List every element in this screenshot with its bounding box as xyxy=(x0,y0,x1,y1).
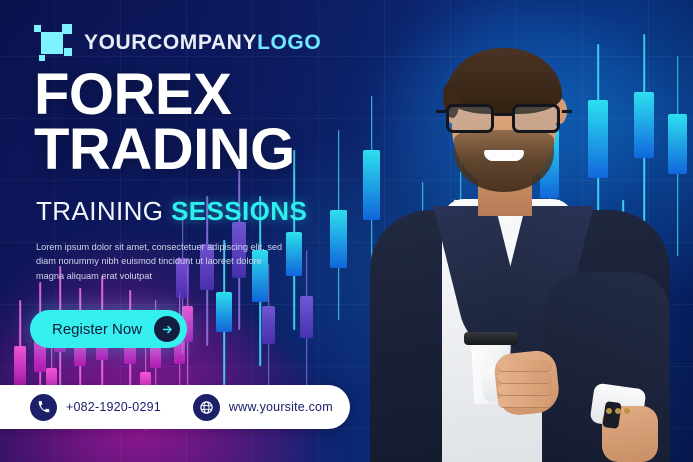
contact-website[interactable]: www.yoursite.com xyxy=(193,394,333,421)
finger xyxy=(498,396,552,407)
phone-icon xyxy=(30,394,57,421)
glasses-temple-right xyxy=(562,110,572,113)
glasses-bridge xyxy=(494,113,514,116)
fingers xyxy=(498,360,554,412)
subheadline-light: TRAINING xyxy=(36,196,171,226)
finger xyxy=(498,360,552,371)
website-url: www.yoursite.com xyxy=(229,400,333,414)
beard xyxy=(454,130,554,192)
logo-square-corner-1 xyxy=(34,25,41,32)
logo-square-corner-3 xyxy=(64,48,72,56)
finger xyxy=(498,384,552,395)
lens-right xyxy=(512,104,560,133)
brand-name: YOURCOMPANYLOGO xyxy=(84,31,321,55)
contact-bar: +082-1920-0291 www.yoursite.com xyxy=(0,385,350,429)
businessman-photo xyxy=(356,34,686,462)
logo-square-corner-4 xyxy=(39,55,45,61)
finger xyxy=(498,372,552,383)
logo-square-main xyxy=(41,32,63,54)
globe-icon xyxy=(193,394,220,421)
eyeglasses-icon xyxy=(444,104,564,134)
register-now-label: Register Now xyxy=(52,321,142,338)
subheadline-accent: SESSIONS xyxy=(171,196,307,226)
page-title: FOREX TRADING xyxy=(34,68,295,177)
phone-number: +082-1920-0291 xyxy=(66,400,161,414)
register-now-button[interactable]: Register Now xyxy=(30,310,187,348)
headline-line-2: TRADING xyxy=(34,123,295,178)
smile xyxy=(484,150,524,161)
cuff-button xyxy=(624,408,630,414)
cuff-button xyxy=(615,408,621,414)
glasses-temple-left xyxy=(436,110,446,113)
description-paragraph: Lorem ipsum dolor sit amet, consectetuer… xyxy=(36,240,288,283)
subheadline: TRAINING SESSIONS xyxy=(36,196,307,227)
coffee-cup-lid xyxy=(464,332,518,345)
lens-left xyxy=(446,104,494,133)
logo-square-corner-2 xyxy=(62,24,72,34)
square-bracket-logo-icon xyxy=(34,24,72,62)
forex-training-banner: YOURCOMPANYLOGO FOREX TRADING TRAINING S… xyxy=(0,0,693,462)
jacket-cuff-buttons xyxy=(606,408,632,417)
contact-phone[interactable]: +082-1920-0291 xyxy=(30,394,161,421)
cuff-button xyxy=(606,408,612,414)
brand-logo[interactable]: YOURCOMPANYLOGO xyxy=(34,24,321,62)
brand-name-accent: LOGO xyxy=(257,31,321,54)
brand-name-primary: YOURCOMPANY xyxy=(84,31,257,54)
arrow-right-icon xyxy=(154,316,180,342)
headline-line-1: FOREX xyxy=(34,68,295,123)
